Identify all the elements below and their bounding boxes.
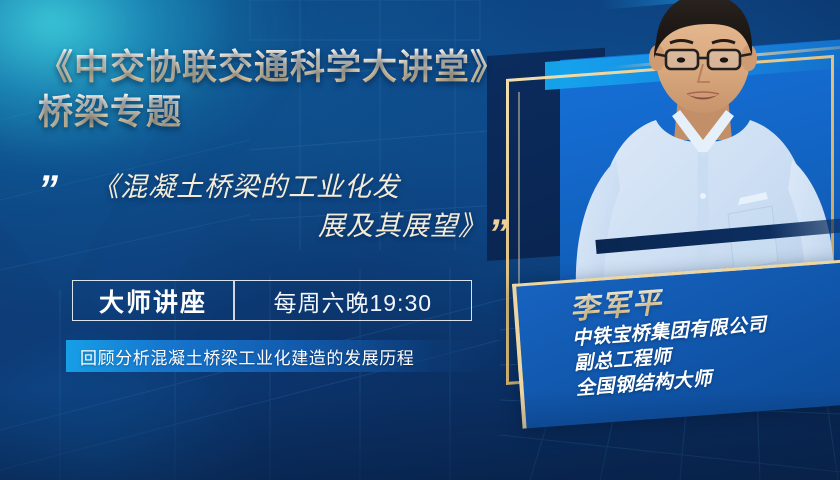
title-line-2: 桥梁专题 — [38, 91, 558, 136]
quote-line-1: 《混凝土桥梁的工业化发 — [84, 168, 504, 207]
speaker-nameplate: 李军平 中铁宝桥集团有限公司 副总工程师 全国钢结构大师 — [512, 260, 840, 429]
quote-open-mark: ” — [38, 170, 55, 210]
lecture-info-box: 大师讲座 每周六晚19:30 — [72, 280, 472, 321]
quote-line-2: 展及其展望》 — [84, 207, 504, 246]
poster-title: 《中交协联交通科学大讲堂》 桥梁专题 — [38, 46, 558, 136]
description-bar: 回顾分析混凝土桥梁工业化建造的发展历程 — [66, 340, 496, 372]
lecture-schedule: 每周六晚19:30 — [235, 284, 472, 318]
quote-close-mark: ” — [488, 214, 505, 254]
title-line-1: 《中交协联交通科学大讲堂》 — [38, 46, 558, 91]
description-text: 回顾分析混凝土桥梁工业化建造的发展历程 — [66, 344, 414, 369]
quote-text: 《混凝土桥梁的工业化发 展及其展望》 — [84, 168, 504, 247]
lecture-poster: 李军平 中铁宝桥集团有限公司 副总工程师 全国钢结构大师 《中交协联交通科学大讲… — [0, 0, 840, 480]
lecture-type-label: 大师讲座 — [73, 283, 233, 319]
lecture-topic-quote: ” ” 《混凝土桥梁的工业化发 展及其展望》 — [36, 168, 536, 247]
